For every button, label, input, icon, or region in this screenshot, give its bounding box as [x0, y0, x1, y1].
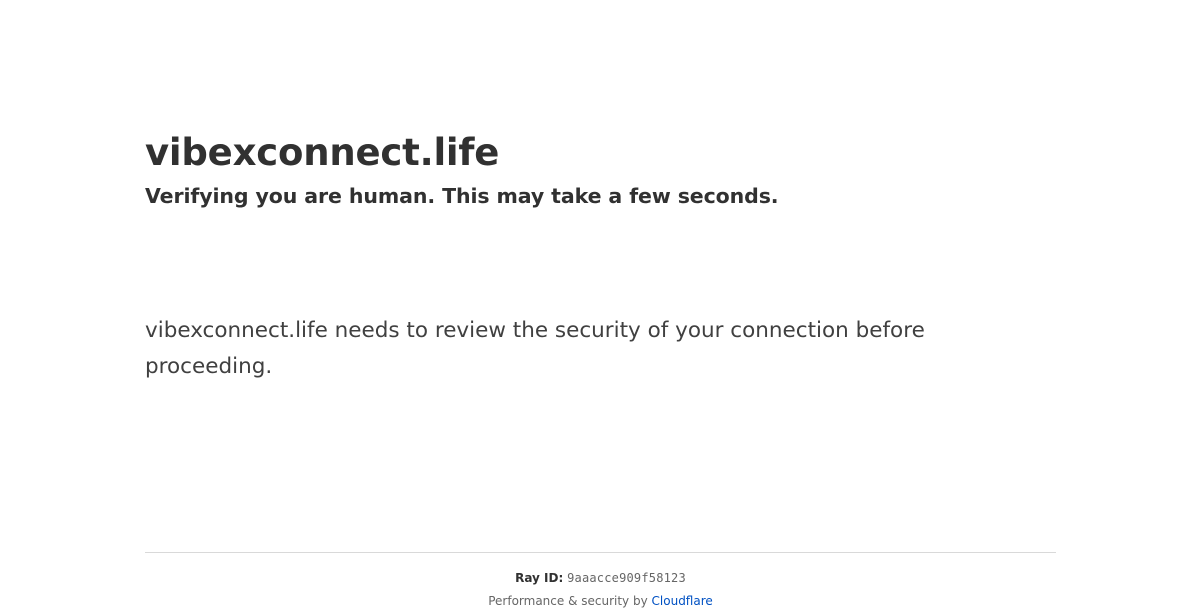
attribution-line: Performance & security by Cloudflare	[145, 593, 1056, 609]
page-footer: Ray ID: 9aaacce909f58123 Performance & s…	[145, 552, 1056, 609]
ray-id-line: Ray ID: 9aaacce909f58123	[145, 570, 1056, 586]
challenge-page: vibexconnect.life Verifying you are huma…	[0, 0, 1200, 600]
ray-id-label: Ray ID:	[515, 571, 563, 585]
page-title: vibexconnect.life	[145, 131, 1056, 175]
security-review-description: vibexconnect.life needs to review the se…	[145, 309, 945, 385]
page-header: vibexconnect.life Verifying you are huma…	[145, 0, 1056, 209]
cloudflare-link[interactable]: Cloudflare	[652, 594, 713, 608]
footer-content: Ray ID: 9aaacce909f58123 Performance & s…	[145, 553, 1056, 609]
turnstile-challenge-widget[interactable]	[145, 243, 445, 309]
attribution-prefix: Performance & security by	[488, 594, 647, 608]
verification-status-text: Verifying you are human. This may take a…	[145, 183, 1056, 210]
content-wrapper: vibexconnect.life Verifying you are huma…	[145, 0, 1056, 385]
ray-id-value: 9aaacce909f58123	[567, 571, 686, 585]
